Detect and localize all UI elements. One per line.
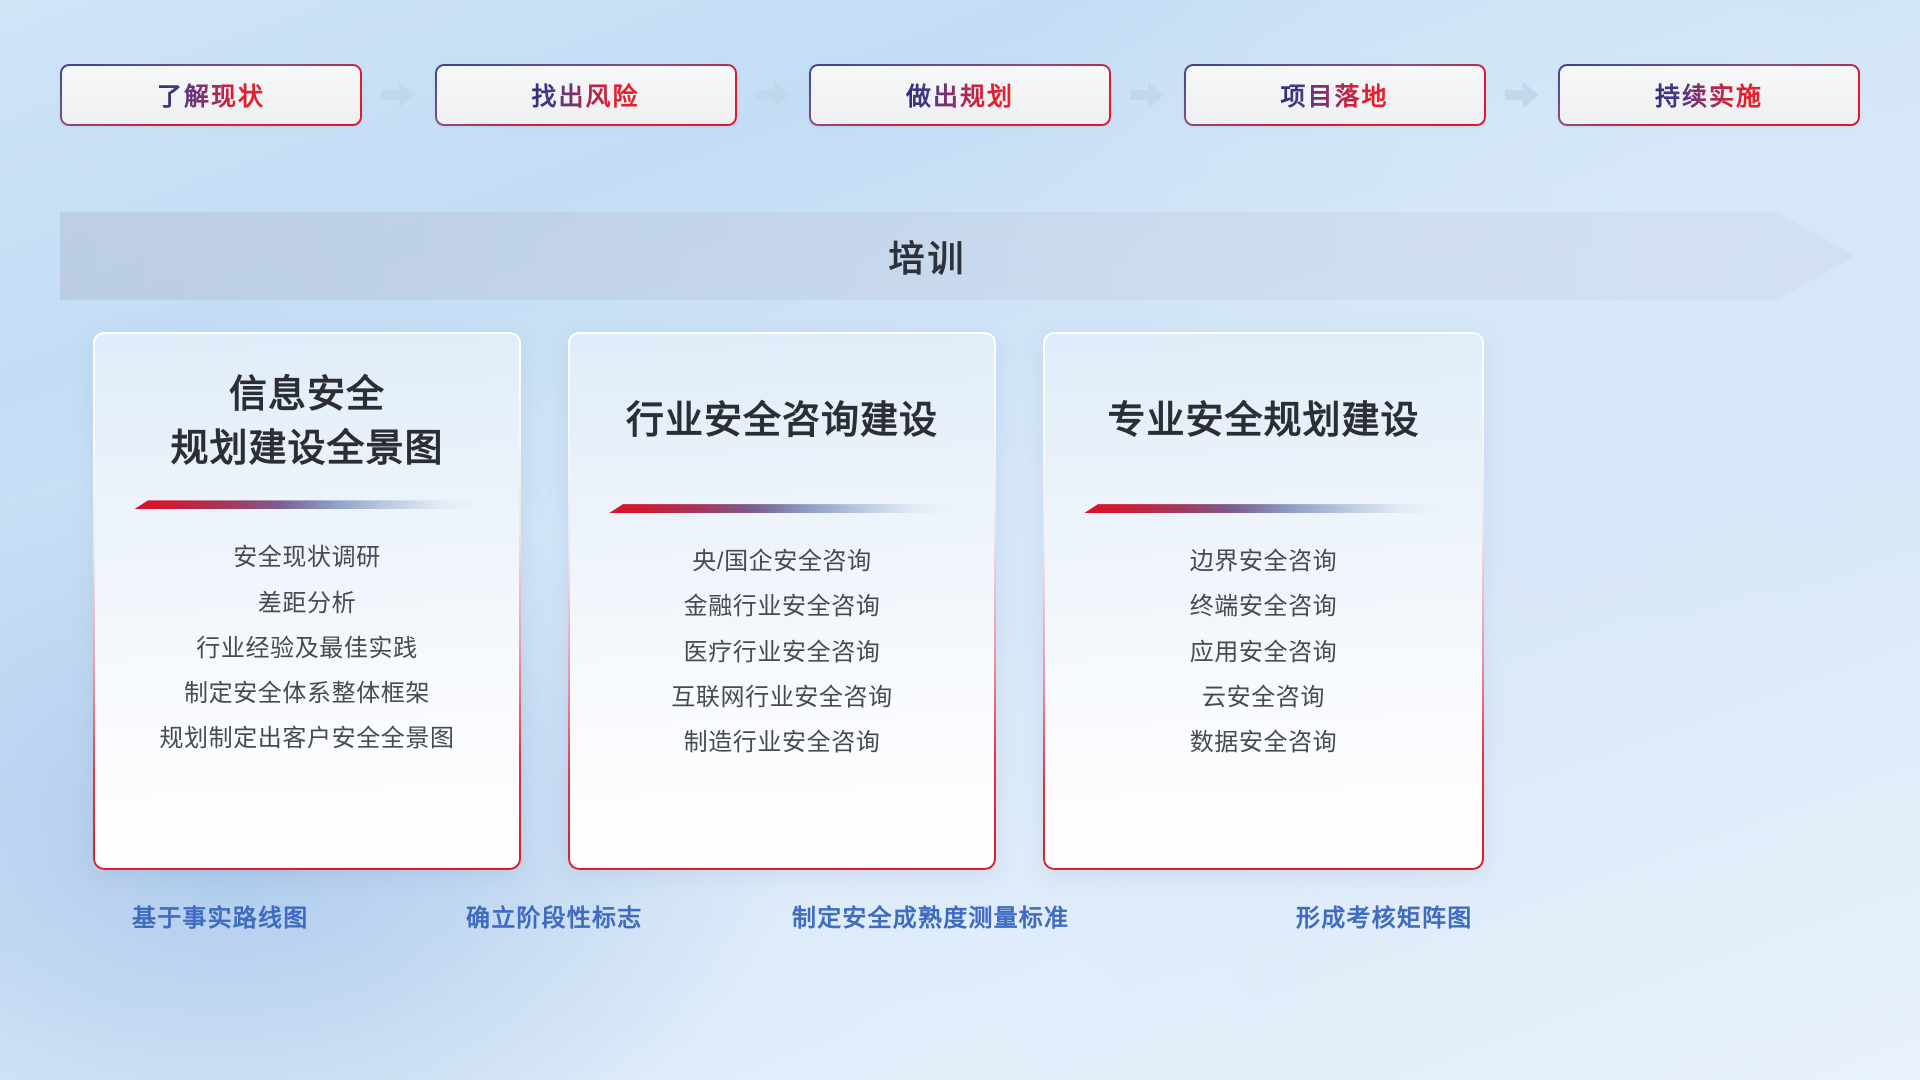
card-item-list-0: 安全现状调研 差距分析 行业经验及最佳实践 制定安全体系整体框架 规划制定出客户… — [115, 535, 499, 761]
step-item-3: 项目落地 — [1184, 64, 1486, 126]
card-row: 信息安全 规划建设全景图 安全现状调研 差距分析 行业经验及最佳实践 制定安全体… — [0, 332, 1920, 880]
banner-label: 培训 — [60, 212, 1855, 300]
arrow-right-icon — [750, 82, 796, 108]
list-item: 行业经验及最佳实践 — [196, 626, 417, 671]
card-information-security-blueprint[interactable]: 信息安全 规划建设全景图 安全现状调研 差距分析 行业经验及最佳实践 制定安全体… — [93, 332, 521, 870]
list-item: 央/国企安全咨询 — [692, 539, 871, 584]
list-item: 互联网行业安全咨询 — [671, 675, 892, 720]
arrow-right-icon — [1499, 82, 1545, 108]
card-title-0-line1: 信息安全 — [229, 370, 385, 420]
step-box-3[interactable]: 项目落地 — [1184, 64, 1486, 126]
list-item: 规划制定出客户安全全景图 — [159, 716, 454, 761]
caption-3: 形成考核矩阵图 — [1296, 898, 1472, 933]
step-box-0[interactable]: 了解现状 — [60, 64, 362, 126]
card-industry-security-consulting[interactable]: 行业安全咨询建设 央/国企安全咨询 金融行业安全咨询 医疗行业安全咨询 互联网行… — [568, 332, 996, 870]
arrow-right-icon — [1124, 82, 1170, 108]
list-item: 制定安全体系整体框架 — [184, 671, 430, 716]
step-label-4: 持续实施 — [1655, 77, 1763, 113]
step-label-2: 做出规划 — [906, 77, 1014, 113]
list-item: 应用安全咨询 — [1190, 630, 1338, 675]
list-item: 金融行业安全咨询 — [684, 584, 881, 629]
card-title-1-line1: 行业安全咨询建设 — [626, 396, 938, 446]
list-item: 边界安全咨询 — [1190, 539, 1338, 584]
list-item: 数据安全咨询 — [1190, 720, 1338, 765]
arrow-right-icon — [375, 82, 421, 108]
step-box-4[interactable]: 持续实施 — [1558, 64, 1860, 126]
card-professional-security-planning[interactable]: 专业安全规划建设 边界安全咨询 终端安全咨询 应用安全咨询 云安全咨询 数据安全… — [1043, 332, 1484, 870]
card-item-list-1: 央/国企安全咨询 金融行业安全咨询 医疗行业安全咨询 互联网行业安全咨询 制造行… — [590, 539, 974, 765]
card-divider — [609, 504, 955, 513]
step-label-0: 了解现状 — [157, 77, 265, 113]
step-item-4: 持续实施 — [1558, 64, 1860, 126]
caption-2: 制定安全成熟度测量标准 — [792, 898, 1069, 933]
card-divider — [1084, 504, 1443, 513]
card-divider — [134, 500, 480, 509]
card-item-list-2: 边界安全咨询 终端安全咨询 应用安全咨询 云安全咨询 数据安全咨询 — [1065, 539, 1462, 765]
list-item: 云安全咨询 — [1202, 675, 1325, 720]
list-item: 安全现状调研 — [233, 535, 381, 580]
training-banner: 培训 — [60, 212, 1855, 300]
caption-0: 基于事实路线图 — [132, 898, 308, 933]
card-title-0-line2: 规划建设全景图 — [170, 424, 443, 474]
list-item: 医疗行业安全咨询 — [684, 630, 881, 675]
step-item-2: 做出规划 — [809, 64, 1111, 126]
caption-row: 基于事实路线图 确立阶段性标志 制定安全成熟度测量标准 形成考核矩阵图 — [0, 898, 1920, 948]
list-item: 终端安全咨询 — [1190, 584, 1338, 629]
step-label-3: 项目落地 — [1280, 77, 1388, 113]
list-item: 差距分析 — [258, 581, 356, 626]
caption-1: 确立阶段性标志 — [466, 898, 642, 933]
list-item: 制造行业安全咨询 — [684, 720, 881, 765]
step-label-1: 找出风险 — [531, 77, 639, 113]
process-step-row: 了解现状 找出风险 做出规划 项目落地 持续实施 — [60, 64, 1860, 126]
step-item-0: 了解现状 — [60, 64, 362, 126]
step-box-2[interactable]: 做出规划 — [809, 64, 1111, 126]
card-title-2-line1: 专业安全规划建设 — [1107, 396, 1419, 446]
step-item-1: 找出风险 — [435, 64, 737, 126]
step-box-1[interactable]: 找出风险 — [435, 64, 737, 126]
